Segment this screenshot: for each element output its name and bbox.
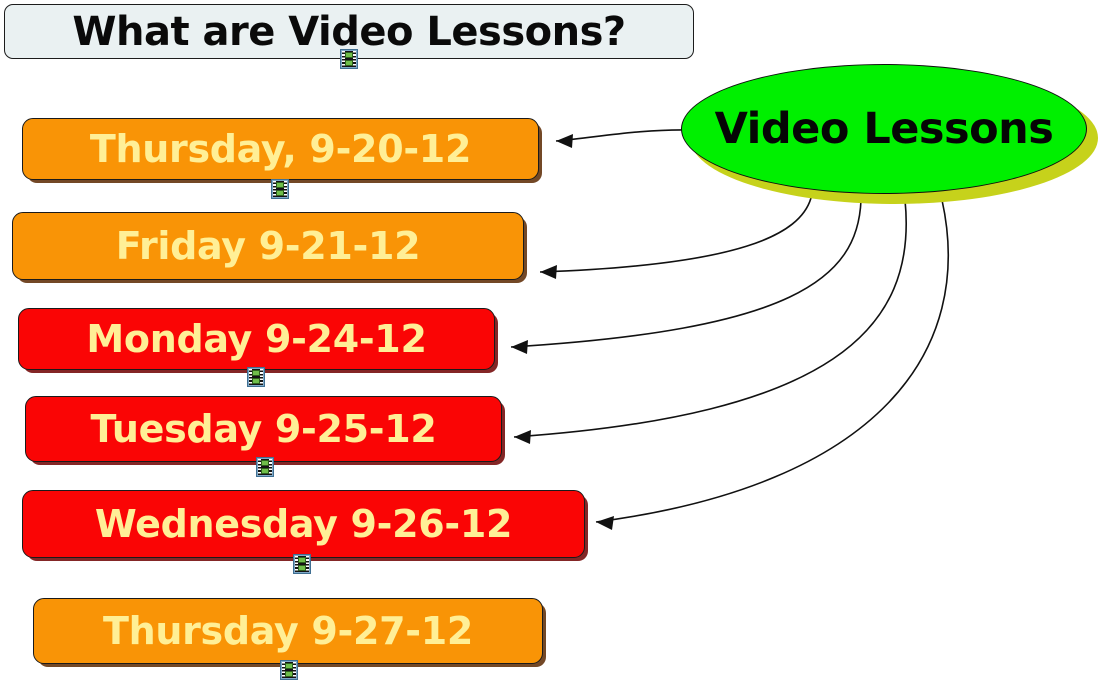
list-item[interactable]: Thursday, 9-20-12 xyxy=(22,118,539,180)
connector-arrowhead-4 xyxy=(514,430,531,444)
film-icon-sprockets-right xyxy=(353,51,356,67)
connector-line-3 xyxy=(511,200,861,347)
film-icon-sprockets-right xyxy=(260,369,263,385)
film-strip-icon[interactable] xyxy=(247,367,265,387)
film-strip-icon[interactable] xyxy=(340,49,358,69)
connector-line-1 xyxy=(556,130,690,141)
film-strip-icon[interactable] xyxy=(271,179,289,199)
connector-arrowhead-5 xyxy=(596,516,614,530)
film-strip-icon[interactable] xyxy=(293,554,311,574)
film-icon-cell-bottom xyxy=(285,671,293,677)
film-icon-cell-top xyxy=(345,52,353,58)
film-icon-cell-top xyxy=(261,460,269,466)
film-icon-sprockets-right xyxy=(293,662,296,678)
film-icon-cell-bottom xyxy=(261,468,269,474)
film-icon-cell-bottom xyxy=(345,60,353,66)
hub-label: Video Lessons xyxy=(715,108,1054,151)
chip-label: Wednesday 9-26-12 xyxy=(95,505,512,543)
film-icon-cell-top xyxy=(285,663,293,669)
connector-arrowhead-2 xyxy=(540,265,557,279)
connector-arrowhead-1 xyxy=(556,134,573,148)
slide-canvas: What are Video Lessons? Thursday, 9-20-1… xyxy=(0,0,1099,683)
film-strip-icon[interactable] xyxy=(256,457,274,477)
film-icon-cell-bottom xyxy=(276,190,284,196)
film-icon-cell-bottom xyxy=(298,565,306,571)
list-item[interactable]: Thursday 9-27-12 xyxy=(33,598,543,664)
list-item[interactable]: Tuesday 9-25-12 xyxy=(25,396,502,462)
page-title: What are Video Lessons? xyxy=(72,12,625,52)
film-icon-sprockets-right xyxy=(284,181,287,197)
film-icon-cell-top xyxy=(298,557,306,563)
chip-label: Thursday 9-27-12 xyxy=(103,612,473,650)
connector-line-2 xyxy=(540,198,811,272)
list-item[interactable]: Friday 9-21-12 xyxy=(12,212,524,280)
film-icon-sprockets-right xyxy=(269,459,272,475)
chip-label: Monday 9-24-12 xyxy=(86,320,426,358)
film-strip-icon[interactable] xyxy=(280,660,298,680)
hub-ellipse[interactable]: Video Lessons xyxy=(681,64,1087,194)
connector-line-4 xyxy=(514,200,906,437)
chip-label: Friday 9-21-12 xyxy=(116,227,421,265)
chip-label: Tuesday 9-25-12 xyxy=(90,410,436,448)
film-icon-cell-bottom xyxy=(252,378,260,384)
list-item[interactable]: Monday 9-24-12 xyxy=(18,308,495,370)
film-icon-cell-top xyxy=(252,370,260,376)
connector-arrowhead-3 xyxy=(511,340,528,354)
film-icon-sprockets-right xyxy=(306,556,309,572)
list-item[interactable]: Wednesday 9-26-12 xyxy=(22,490,585,558)
connector-line-5 xyxy=(596,200,948,522)
film-icon-cell-top xyxy=(276,182,284,188)
chip-label: Thursday, 9-20-12 xyxy=(90,130,471,168)
